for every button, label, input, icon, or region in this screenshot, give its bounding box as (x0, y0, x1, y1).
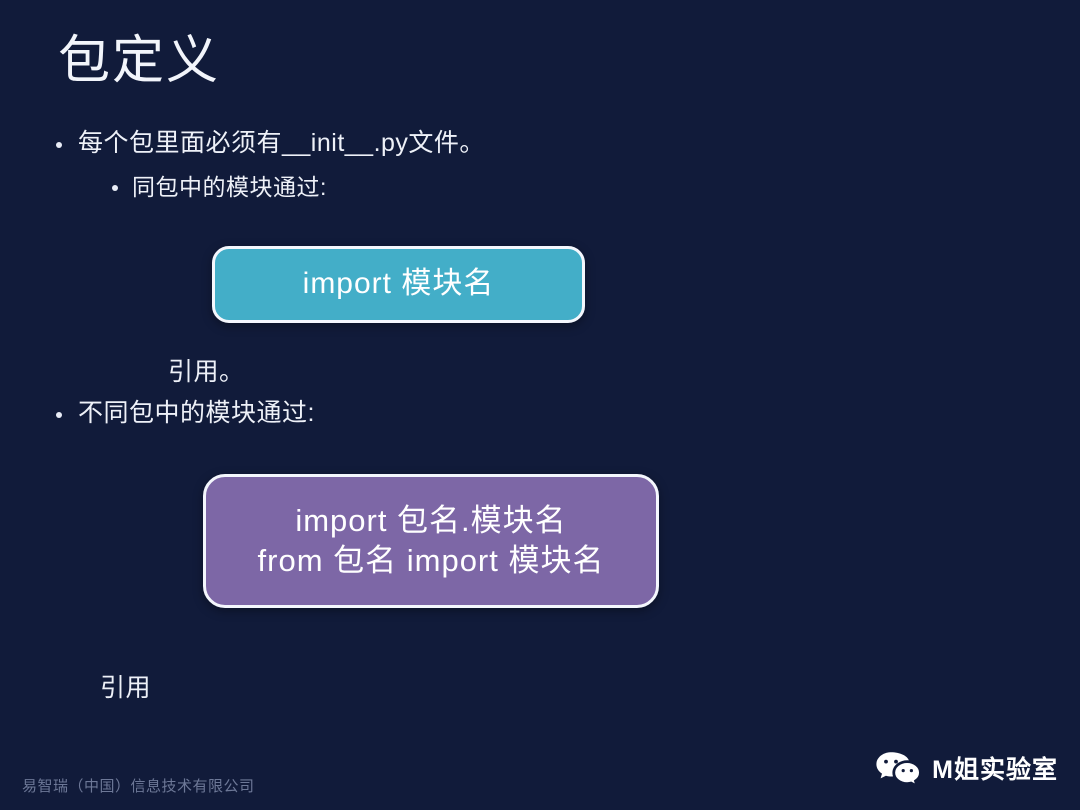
bullet-dot-icon (56, 412, 62, 418)
reference-note-2: 引用 (100, 668, 151, 704)
brand-watermark: M姐实验室 (875, 750, 1058, 786)
code-line: import 模块名 (303, 265, 495, 303)
code-callout-same-package: import 模块名 (212, 246, 585, 323)
bullet-label: 不同包中的模块通过: (78, 397, 315, 431)
slide-canvas: 包定义 每个包里面必须有__init__.py文件。 同包中的模块通过: imp… (0, 0, 1080, 810)
bullet-item-level1-1: 每个包里面必须有__init__.py文件。 (56, 127, 485, 161)
bullet-dot-icon (56, 142, 62, 148)
reference-note-1: 引用。 (168, 352, 245, 388)
bullet-label: 每个包里面必须有__init__.py文件。 (78, 127, 485, 161)
bullet-dot-icon (112, 185, 118, 191)
code-line: import 包名.模块名 (295, 501, 566, 541)
page-title: 包定义 (58, 33, 220, 90)
code-line: from 包名 import 模块名 (258, 541, 605, 581)
bullet-item-level2-1: 同包中的模块通过: (112, 172, 327, 203)
brand-name-label: M姐实验室 (932, 750, 1058, 786)
code-callout-cross-package: import 包名.模块名 from 包名 import 模块名 (203, 474, 659, 608)
footer-company-name: 易智瑞（中国）信息技术有限公司 (22, 775, 255, 796)
bullet-label: 同包中的模块通过: (132, 172, 327, 203)
wechat-icon (875, 751, 921, 785)
bullet-item-level1-2: 不同包中的模块通过: (56, 397, 315, 431)
